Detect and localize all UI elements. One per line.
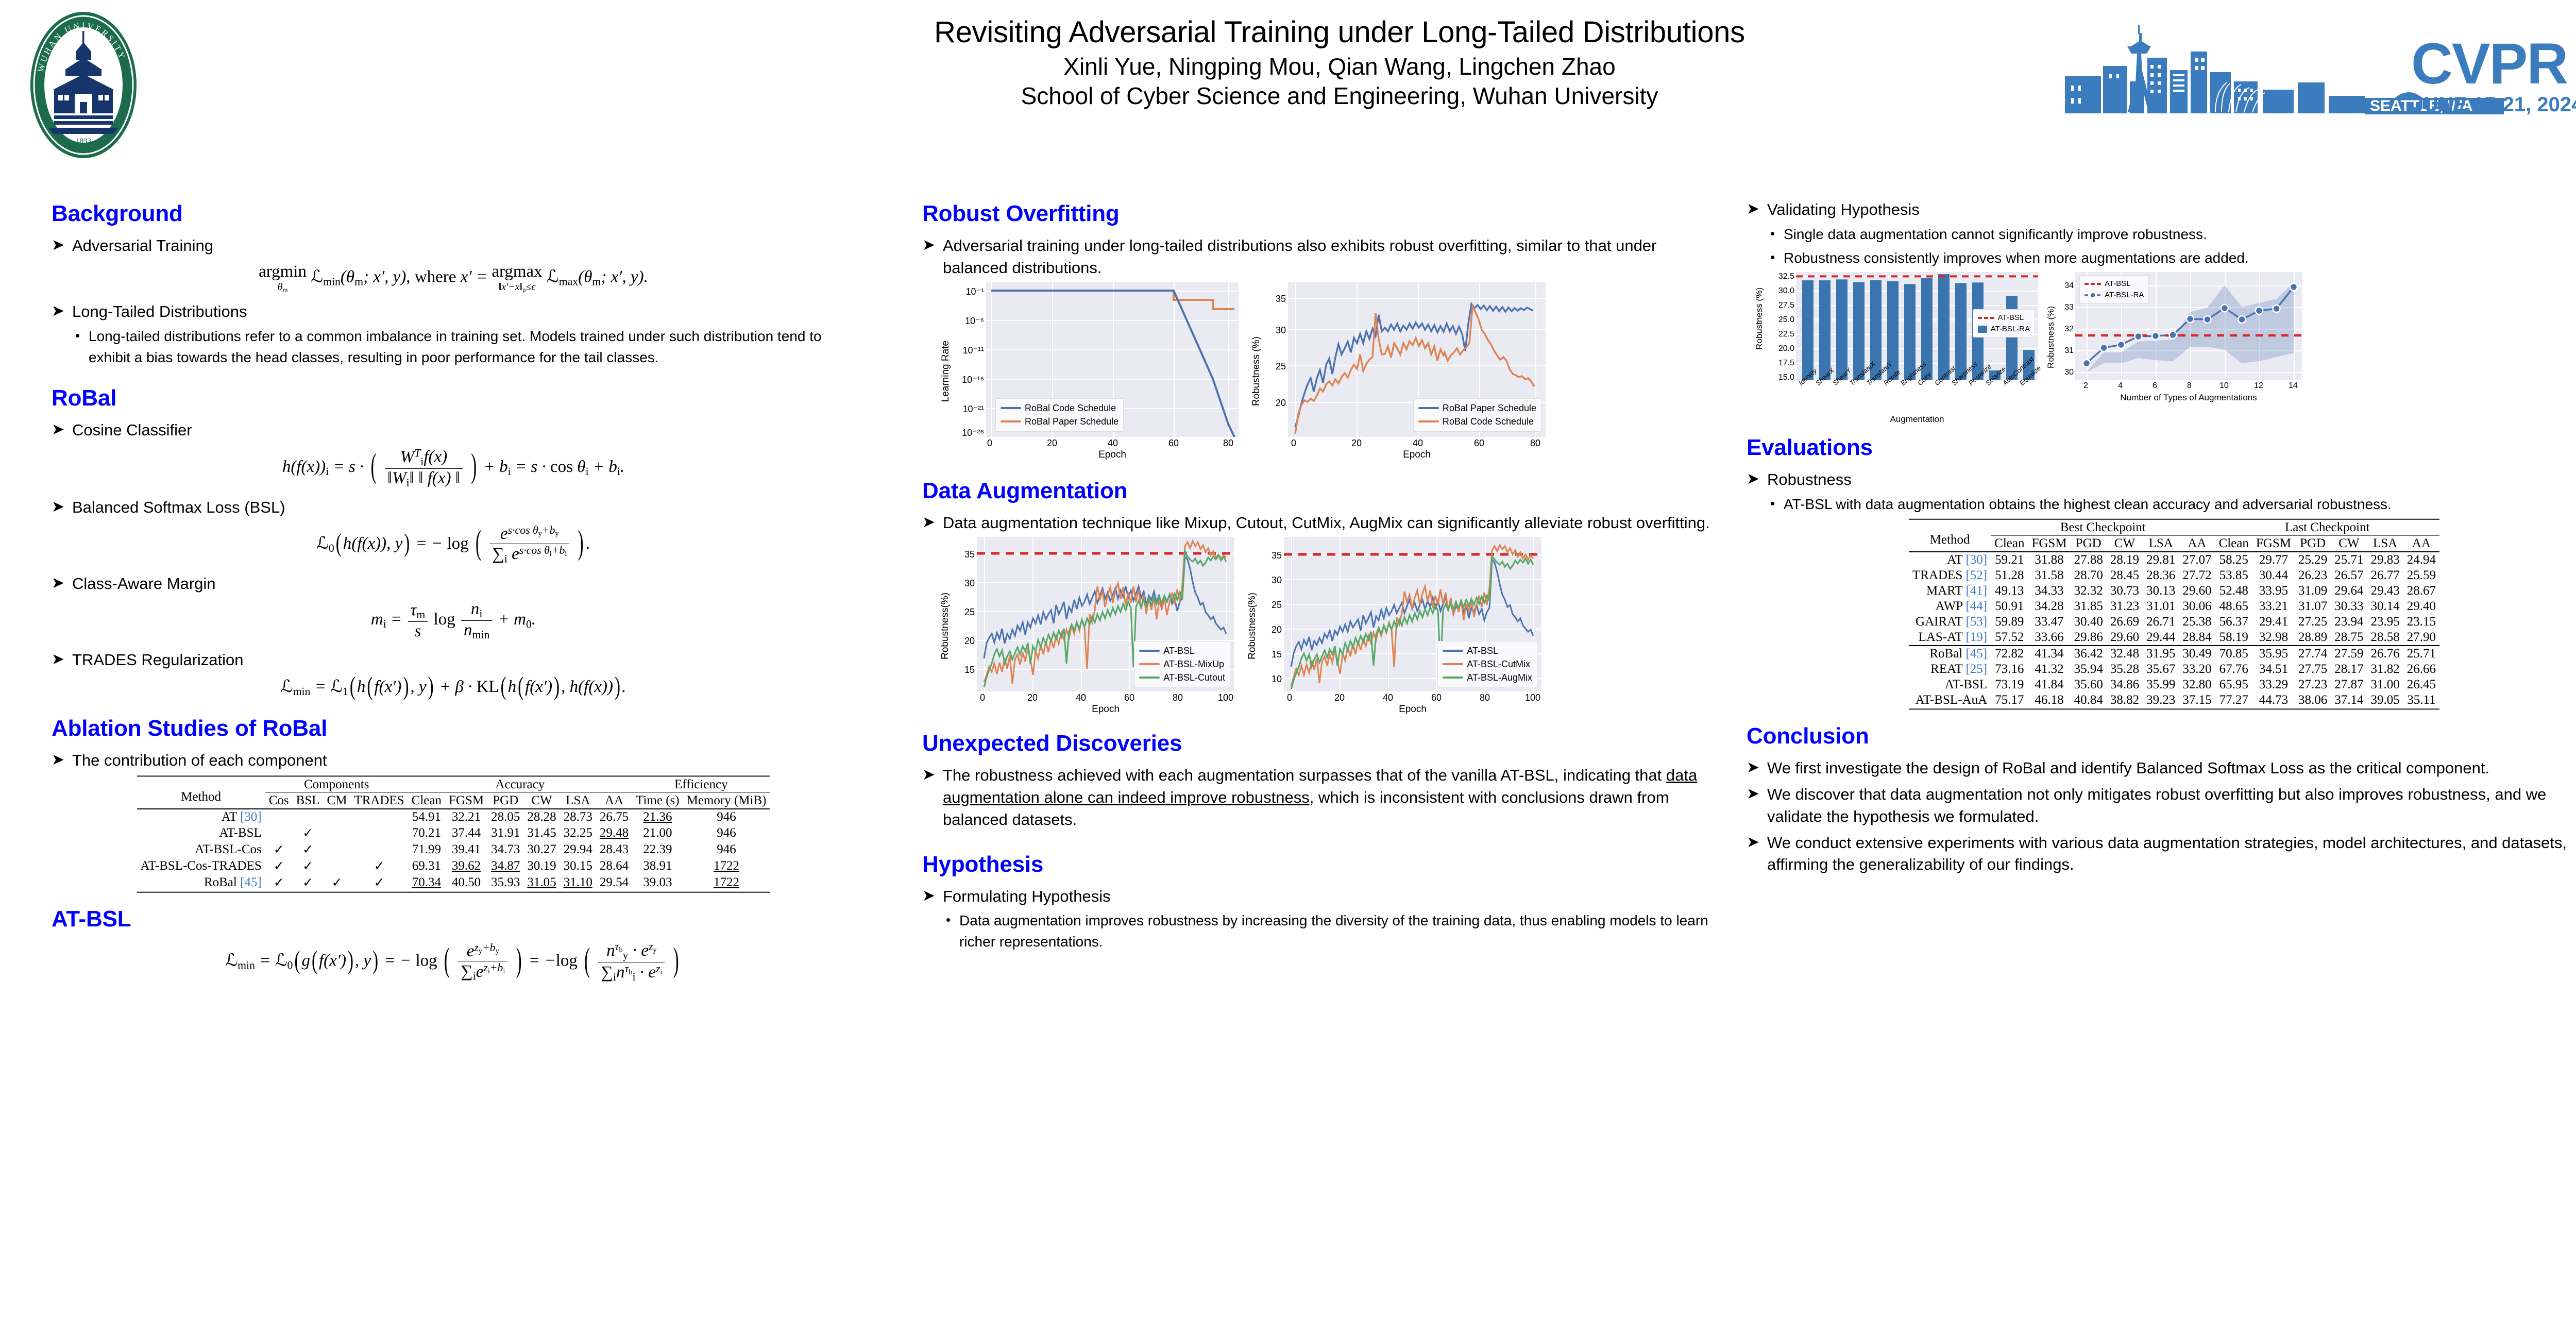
cell-pgd: 31.91 (487, 825, 523, 841)
cell-value-5: 32.80 (2179, 677, 2215, 692)
cell-value-11: 25.71 (2403, 646, 2439, 662)
legend-item: AT-BSL (1443, 644, 1532, 657)
cell-value-5: 30.49 (2179, 646, 2215, 662)
table-row: AT-BSL73.1941.8435.6034.8635.9932.8065.9… (1909, 677, 2439, 692)
citation-link[interactable]: [52] (1965, 568, 1987, 582)
dot-bullet-icon: • (75, 326, 89, 346)
xtick: 100 (1218, 692, 1233, 703)
bullet-label: Validating Hypothesis (1767, 199, 1920, 221)
bullet-label: TRADES Regularization (72, 649, 244, 671)
cell-value-10: 29.83 (2367, 552, 2403, 568)
chart-legend: AT-BSL AT-BSL-CutMix AT-BSL-AugMix (1437, 641, 1537, 687)
cell-value-6: 48.65 (2215, 599, 2252, 614)
cell-value-8: 27.75 (2295, 662, 2331, 677)
bullet-label: Data augmentation technique like Mixup, … (943, 512, 1710, 534)
xtick: 80 (1530, 438, 1540, 449)
chart-ylabel: Robustness(%) (1247, 593, 1258, 659)
arrow-bullet-icon: ➤ (922, 512, 940, 533)
chart-legend: RoBal Paper Schedule RoBal Code Schedule (1413, 398, 1541, 431)
cell-value-3: 32.48 (2107, 646, 2143, 662)
section-heading-background: Background (52, 201, 855, 227)
ytick: 25 (964, 607, 975, 618)
cell-aa: 29.48 (596, 825, 632, 841)
ytick: 22.5 (1778, 330, 1794, 339)
arrow-bullet-icon: ➤ (52, 497, 69, 518)
cell-cos: ✓ (265, 858, 293, 874)
cell-value-0: 75.17 (1991, 692, 2028, 708)
col-header-fgsm-7: FGSM (2252, 536, 2295, 552)
cell-value-8: 31.09 (2295, 583, 2331, 599)
cell-mem: 1722 (683, 858, 770, 874)
cell-clean: 69.31 (408, 858, 445, 874)
section-heading-ablation: Ablation Studies of RoBal (52, 716, 855, 741)
ytick: 35 (1272, 550, 1282, 561)
citation-link[interactable]: [25] (1965, 662, 1987, 676)
ytick: 20 (964, 636, 975, 647)
col-header-pgd-2: PGD (2071, 536, 2107, 552)
bullet-label: Adversarial Training (72, 235, 213, 257)
cell-value-11: 28.67 (2403, 583, 2439, 599)
table-row: AT [30]59.2131.8827.8828.1929.8127.0758.… (1909, 552, 2439, 568)
ytick: 25 (1276, 361, 1286, 372)
cell-fgsm: 39.41 (445, 841, 487, 858)
cell-value-0: 49.13 (1991, 583, 2028, 599)
table-group-header-row: Method Best Checkpoint Last Checkpoint (1909, 519, 2439, 536)
chart-xlabel: Number of Types of Augmentations (2075, 393, 2302, 403)
cell-method: LAS-AT [19] (1909, 630, 1991, 646)
cell-value-10: 26.77 (2367, 568, 2403, 583)
xtick: 100 (1525, 692, 1540, 703)
cell-value-5: 33.20 (2179, 662, 2215, 677)
legend-marker-icon (2084, 292, 2101, 299)
citation-link[interactable]: [30] (240, 810, 262, 824)
ytick: 30 (1272, 575, 1282, 586)
cell-method: RoBal [45] (137, 874, 265, 891)
cell-cm (324, 809, 351, 825)
citation-link[interactable]: [44] (1965, 599, 1987, 613)
legend-item: RoBal Paper Schedule (1418, 401, 1536, 415)
cell-value-0: 57.52 (1991, 630, 2028, 646)
bullet-conclusion-2: ➤ We discover that data augmentation not… (1747, 784, 2576, 828)
cell-lsa: 28.73 (560, 809, 596, 825)
legend-item: AT-BSL-RA (1978, 324, 2030, 335)
table-row: RoBal [45]72.8241.3436.4232.4831.9530.49… (1909, 646, 2439, 662)
column-right: ➤ Validating Hypothesis • Single data au… (1747, 201, 2576, 878)
citation-link[interactable]: [45] (240, 875, 262, 889)
cell-value-2: 32.32 (2071, 583, 2107, 599)
xtick: 0 (980, 692, 985, 703)
cell-value-8: 27.23 (2295, 677, 2331, 692)
xtick: 40 (1413, 438, 1423, 449)
cell-value-1: 41.84 (2028, 677, 2070, 692)
cell-cw: 31.05 (523, 874, 560, 891)
cell-value-10: 29.43 (2367, 583, 2403, 599)
chart-xticks: 0 20 40 60 80 (986, 437, 1239, 449)
cell-cw: 31.45 (523, 825, 560, 841)
chart-robust-overfitting: Robustness (%) 20 25 30 35 (1248, 282, 1546, 461)
cell-value-5: 25.38 (2179, 614, 2215, 630)
cell-cm (324, 858, 351, 874)
cell-time: 39.03 (632, 874, 683, 891)
cell-fgsm: 37.44 (445, 825, 487, 841)
legend-label: AT-BSL-RA (1991, 324, 2030, 335)
cell-value-0: 72.82 (1991, 646, 2028, 662)
legend-label: RoBal Code Schedule (1443, 415, 1534, 428)
xtick: 60 (1474, 438, 1484, 449)
ytick: 35 (964, 549, 975, 560)
cell-method: AT-BSL-AuA (1909, 692, 1991, 708)
cell-bsl: ✓ (293, 825, 324, 841)
equation-class-aware-margin: mi = τms log ninmin + m0. (52, 600, 855, 641)
cell-value-10: 28.58 (2367, 630, 2403, 646)
col-header-cos: Cos (265, 793, 293, 809)
equation-trades-regularization: ℒmin = ℒ1(h(f(x′)), y) + β · KL(h(f(x′))… (52, 676, 855, 698)
cell-value-3: 30.73 (2107, 583, 2143, 599)
cell-value-11: 26.45 (2403, 677, 2439, 692)
cell-cm (324, 825, 351, 841)
bullet-label: We discover that data augmentation not o… (1767, 784, 2576, 828)
chart-ylabel: Learning Rate (940, 341, 952, 402)
cell-trades: ✓ (350, 874, 408, 891)
cell-bsl: ✓ (293, 841, 324, 858)
chart-yticks: 15.0 17.5 20.0 22.5 25.0 27.5 30.0 32.5 (1767, 272, 1796, 380)
bullet-label: We first investigate the design of RoBal… (1767, 757, 2489, 780)
cell-aa: 28.43 (596, 841, 632, 858)
cell-value-0: 50.91 (1991, 599, 2028, 614)
cell-value-4: 30.13 (2143, 583, 2179, 599)
cell-value-5: 27.72 (2179, 568, 2215, 583)
subbullet-label: Robustness consistently improves when mo… (1784, 248, 2249, 269)
chart-aug-cutmix-augmix: Robustness(%) 10 15 20 25 30 35 (1244, 537, 1541, 715)
xtick: 20 (1047, 438, 1057, 449)
cell-value-1: 34.33 (2028, 583, 2070, 599)
bullet-long-tailed-distributions: ➤ Long-Tailed Distributions (52, 301, 855, 323)
ablation-table: Method Components Accuracy Efficiency Co… (137, 775, 770, 893)
legend-item: RoBal Paper Schedule (1001, 415, 1118, 428)
column-left: Background ➤ Adversarial Training argmin… (52, 201, 855, 991)
bullet-data-augmentation: ➤ Data augmentation technique like Mixup… (922, 512, 1710, 534)
cell-value-7: 33.29 (2252, 677, 2295, 692)
table-row: TRADES [52]51.2831.5828.7028.4528.3627.7… (1909, 568, 2439, 583)
cvpr-dates: JUNE 17-21, 2024 (2412, 93, 2576, 116)
cell-value-0: 59.89 (1991, 614, 2028, 630)
cell-value-1: 31.88 (2028, 552, 2070, 568)
cell-value-8: 27.25 (2295, 614, 2331, 630)
cell-value-11: 29.40 (2403, 599, 2439, 614)
legend-label: RoBal Paper Schedule (1443, 401, 1536, 415)
xtick: 12 (2254, 381, 2263, 391)
chart-plot-area: AT-BSL AT-BSL-RA (1796, 272, 2038, 380)
evaluations-table: Method Best Checkpoint Last Checkpoint C… (1909, 518, 2439, 710)
cell-mem: 1722 (683, 874, 770, 891)
cell-value-9: 28.17 (2331, 662, 2367, 677)
citation-link[interactable]: [53] (1965, 615, 1987, 629)
cell-method: GAIRAT [53] (1909, 614, 1991, 630)
bullet-adversarial-training: ➤ Adversarial Training (52, 235, 855, 257)
citation-link[interactable]: [45] (1965, 647, 1987, 661)
cell-value-4: 31.01 (2143, 599, 2179, 614)
cell-cm (324, 841, 351, 858)
table-row: RoBal [45]✓✓✓✓70.3440.5035.9331.0531.102… (137, 874, 770, 891)
bullet-text-part1: The robustness achieved with each augmen… (943, 766, 1666, 784)
legend-label: AT-BSL-Cutout (1163, 671, 1225, 684)
ytick: 17.5 (1778, 359, 1794, 368)
chart-yticks: 10 15 20 25 30 35 (1261, 537, 1284, 691)
legend-label: AT-BSL-MixUp (1163, 657, 1224, 671)
xtick: 40 (1383, 692, 1393, 703)
cell-value-7: 29.41 (2252, 614, 2295, 630)
arrow-bullet-icon: ➤ (52, 750, 69, 771)
cell-method: AT [30] (1909, 552, 1991, 568)
col-header-clean: Clean (408, 793, 445, 809)
subbullet-robustness-desc: • AT-BSL with data augmentation obtains … (1770, 494, 2576, 515)
legend-item: RoBal Code Schedule (1418, 415, 1536, 428)
xtick: 40 (1108, 438, 1118, 449)
logo-year: 1893 (76, 137, 91, 145)
section-heading-evaluations: Evaluations (1747, 435, 2576, 461)
affiliation: School of Cyber Science and Engineering,… (644, 81, 2035, 111)
chart-plot-area: AT-BSL AT-BSL-RA (2075, 272, 2302, 380)
cell-value-11: 26.66 (2403, 662, 2439, 677)
table-row: AT-BSL-AuA75.1746.1840.8438.8239.2337.15… (1909, 692, 2439, 708)
section-heading-robal: RoBal (52, 385, 855, 411)
cell-value-1: 46.18 (2028, 692, 2070, 708)
legend-label: AT-BSL (1163, 644, 1195, 657)
arrow-bullet-icon: ➤ (1747, 469, 1764, 490)
cell-aa: 29.54 (596, 874, 632, 891)
cell-value-11: 27.90 (2403, 630, 2439, 646)
ytick: 15.0 (1778, 373, 1794, 382)
dot-bullet-icon: • (946, 910, 959, 930)
group-header-accuracy: Accuracy (408, 776, 632, 793)
cell-value-0: 73.16 (1991, 662, 2028, 677)
chart-xticks: 0 20 40 60 80 100 (977, 691, 1234, 704)
ytick: 10⁻²¹ (962, 404, 984, 415)
xtick: 20 (1334, 692, 1345, 703)
chart-row-data-augmentation: Robustness(%) 15 20 25 30 35 (937, 537, 1710, 715)
bullet-label: Cosine Classifier (72, 419, 192, 442)
chart-xlabel: Epoch (977, 704, 1234, 715)
cell-method: REAT [25] (1909, 662, 1991, 677)
citation-link[interactable]: [41] (1965, 584, 1987, 598)
col-header-lsa: LSA (560, 793, 596, 809)
chart-xlabel: Epoch (1288, 449, 1546, 461)
xtick: 6 (2153, 381, 2157, 391)
cell-value-6: 52.48 (2215, 583, 2252, 599)
cell-time: 22.39 (632, 841, 683, 858)
cell-value-3: 26.69 (2107, 614, 2143, 630)
page-title: Revisiting Adversarial Training under Lo… (644, 15, 2035, 50)
cell-value-2: 36.42 (2071, 646, 2107, 662)
col-header-trades: TRADES (350, 793, 408, 809)
arrow-bullet-icon: ➤ (922, 235, 940, 256)
cell-value-10: 31.82 (2367, 662, 2403, 677)
bullet-validating-hypothesis: ➤ Validating Hypothesis (1747, 199, 2576, 221)
cell-value-8: 27.74 (2295, 646, 2331, 662)
legend-label: AT-BSL-CutMix (1467, 657, 1530, 671)
bullet-formulating-hypothesis: ➤ Formulating Hypothesis (922, 886, 1710, 908)
cell-clean: 70.34 (408, 874, 445, 891)
cell-value-4: 28.36 (2143, 568, 2179, 583)
ytick: 35 (1276, 294, 1286, 305)
chart-plot-area: RoBal Paper Schedule RoBal Code Schedule (1288, 282, 1546, 437)
chart-ylabel: Robustness(%) (940, 593, 951, 659)
legend-item: AT-BSL-MixUp (1139, 657, 1225, 671)
cell-value-0: 73.19 (1991, 677, 2028, 692)
bullet-label: We conduct extensive experiments with va… (1767, 832, 2576, 876)
col-header-fgsm-1: FGSM (2028, 536, 2070, 552)
cell-time: 38.91 (632, 858, 683, 874)
cell-value-10: 31.00 (2367, 677, 2403, 692)
legend-item: AT-BSL (1978, 312, 2030, 324)
bullet-label: Long-Tailed Distributions (72, 301, 247, 323)
xtick: 80 (1223, 438, 1233, 449)
cell-value-2: 40.84 (2071, 692, 2107, 708)
section-heading-data-augmentation: Data Augmentation (922, 478, 1710, 504)
cell-value-3: 34.86 (2107, 677, 2143, 692)
chart-legend: RoBal Code Schedule RoBal Paper Schedule (995, 398, 1124, 431)
arrow-bullet-icon: ➤ (1747, 757, 1764, 779)
cell-value-10: 23.95 (2367, 614, 2403, 630)
arrow-bullet-icon: ➤ (52, 573, 69, 594)
cell-value-2: 30.40 (2071, 614, 2107, 630)
cell-value-3: 35.28 (2107, 662, 2143, 677)
cell-value-9: 27.87 (2331, 677, 2367, 692)
evaluations-body-group2: RoBal [45]72.8241.3436.4232.4831.9530.49… (1909, 646, 2439, 708)
bullet-conclusion-1: ➤ We first investigate the design of RoB… (1747, 757, 2576, 780)
chart-yticks: 15 20 25 30 35 (954, 537, 977, 691)
bullet-conclusion-3: ➤ We conduct extensive experiments with … (1747, 832, 2576, 876)
xtick: 80 (1173, 692, 1183, 703)
legend-label: RoBal Paper Schedule (1025, 415, 1118, 428)
cell-value-6: 53.85 (2215, 568, 2252, 583)
title-block: Revisiting Adversarial Training under Lo… (644, 15, 2035, 111)
col-header-cm: CM (324, 793, 351, 809)
cell-value-6: 77.27 (2215, 692, 2252, 708)
bullet-class-aware-margin: ➤ Class-Aware Margin (52, 573, 855, 595)
cell-method: AT-BSL-Cos (137, 841, 265, 858)
subbullet-label: AT-BSL with data augmentation obtains th… (1784, 494, 2392, 515)
cell-aa: 28.64 (596, 858, 632, 874)
cell-value-4: 29.81 (2143, 552, 2179, 568)
xtick: 60 (1124, 692, 1134, 703)
cell-value-11: 24.94 (2403, 552, 2439, 568)
cell-value-1: 41.34 (2028, 646, 2070, 662)
legend-item: AT-BSL (2084, 278, 2144, 290)
chart-num-augmentations: Robustness (%) 30 31 32 33 34 (2043, 272, 2302, 425)
group-header-last-checkpoint: Last Checkpoint (2215, 519, 2439, 536)
chart-aug-mixup-cutout: Robustness(%) 15 20 25 30 35 (937, 537, 1234, 715)
cell-value-8: 31.07 (2295, 599, 2331, 614)
equation-cosine-classifier: h(f(x))i = s · ( WTif(x) ‖Wi‖ ‖ f(x) ‖ )… (52, 447, 855, 489)
legend-item: AT-BSL-CutMix (1443, 657, 1532, 671)
chart-xticks: 0 20 40 60 80 (1288, 437, 1546, 449)
ytick: 32 (2064, 325, 2074, 334)
cell-lsa: 31.10 (560, 874, 596, 891)
arrow-bullet-icon: ➤ (52, 235, 69, 256)
cell-value-9: 26.57 (2331, 568, 2367, 583)
xtick: 0 (1291, 438, 1296, 449)
cell-value-5: 29.60 (2179, 583, 2215, 599)
column-middle: Robust Overfitting ➤ Adversarial trainin… (922, 201, 1710, 955)
cell-trades (350, 809, 408, 825)
cell-value-7: 33.21 (2252, 599, 2295, 614)
chart-single-augmentation: Robustness (%) 15.0 17.5 20.0 22.5 25.0 … (1752, 272, 2038, 425)
ytick: 10⁻²⁶ (962, 428, 984, 438)
col-header-method: Method (137, 776, 265, 809)
bullet-robustness: ➤ Robustness (1747, 469, 2576, 491)
col-header-aa: AA (596, 793, 632, 809)
equation-adversarial-training: argminθm ℒmin(θm; x′, y), where x′ = arg… (52, 262, 855, 294)
cell-value-2: 35.94 (2071, 662, 2107, 677)
citation-link[interactable]: [30] (1965, 553, 1987, 567)
cell-cm: ✓ (324, 874, 351, 891)
ytick: 30 (1276, 325, 1286, 336)
subbullet-label: Single data augmentation cannot signific… (1784, 224, 2207, 245)
col-header-lsa-4: LSA (2143, 536, 2179, 552)
chart-ylabel: Robustness (%) (2046, 306, 2056, 368)
table-row: AT-BSL-Cos✓✓71.9939.4134.7330.2729.9428.… (137, 841, 770, 858)
cell-value-1: 41.32 (2028, 662, 2070, 677)
cell-pgd: 35.93 (487, 874, 523, 891)
bullet-trades-regularization: ➤ TRADES Regularization (52, 649, 855, 671)
cell-value-8: 38.06 (2295, 692, 2331, 708)
legend-item: AT-BSL-AugMix (1443, 671, 1532, 684)
cell-pgd: 34.87 (487, 858, 523, 874)
bullet-label: Adversarial training under long-tailed d… (943, 235, 1710, 279)
ytick: 10⁻¹¹ (962, 345, 984, 356)
xtick: 60 (1431, 692, 1442, 703)
cell-method: MART [41] (1909, 583, 1991, 599)
xtick: 40 (1076, 692, 1086, 703)
cvpr-logo: SEATTLE, WA CVPR JUNE 17-21, 2024 (2061, 21, 2576, 119)
cell-fgsm: 40.50 (445, 874, 487, 891)
table-row: GAIRAT [53]59.8933.4730.4026.6926.7125.3… (1909, 614, 2439, 630)
cell-cw: 28.28 (523, 809, 560, 825)
group-header-efficiency: Efficiency (632, 776, 770, 793)
cell-value-9: 29.64 (2331, 583, 2367, 599)
ytick: 20.0 (1778, 344, 1794, 353)
cell-lsa: 30.15 (560, 858, 596, 874)
cell-value-6: 56.37 (2215, 614, 2252, 630)
col-header-aa-5: AA (2179, 536, 2215, 552)
chart-xticklabels: Identity ShearX ShearY TranslateX Transl… (1796, 380, 2038, 414)
xtick: 20 (1027, 692, 1038, 703)
chart-row-validating: Robustness (%) 15.0 17.5 20.0 22.5 25.0 … (1752, 272, 2576, 425)
cell-trades: ✓ (350, 858, 408, 874)
ytick: 30.0 (1778, 286, 1794, 296)
col-header-method: Method (1909, 519, 1991, 552)
cell-fgsm: 32.21 (445, 809, 487, 825)
xtick: 8 (2187, 381, 2192, 391)
arrow-bullet-icon: ➤ (52, 649, 69, 670)
ytick: 27.5 (1778, 301, 1794, 310)
cell-value-4: 39.23 (2143, 692, 2179, 708)
cell-value-7: 32.98 (2252, 630, 2295, 646)
xtick: 10 (2219, 381, 2229, 391)
citation-link[interactable]: [19] (1965, 630, 1987, 644)
cell-method: RoBal [45] (1909, 646, 1991, 662)
ablation-table-body: AT [30]54.9132.2128.0528.2828.7326.7521.… (137, 809, 770, 891)
cell-lsa: 32.25 (560, 825, 596, 841)
cell-value-0: 59.21 (1991, 552, 2028, 568)
cell-value-8: 26.23 (2295, 568, 2331, 583)
table-row: AT [30]54.9132.2128.0528.2828.7326.7521.… (137, 809, 770, 825)
cell-value-11: 35.11 (2403, 692, 2439, 708)
ytick: 10⁻⁶ (965, 316, 984, 327)
dot-bullet-icon: • (1770, 494, 1784, 514)
bullet-ablation-contribution: ➤ The contribution of each component (52, 750, 855, 772)
